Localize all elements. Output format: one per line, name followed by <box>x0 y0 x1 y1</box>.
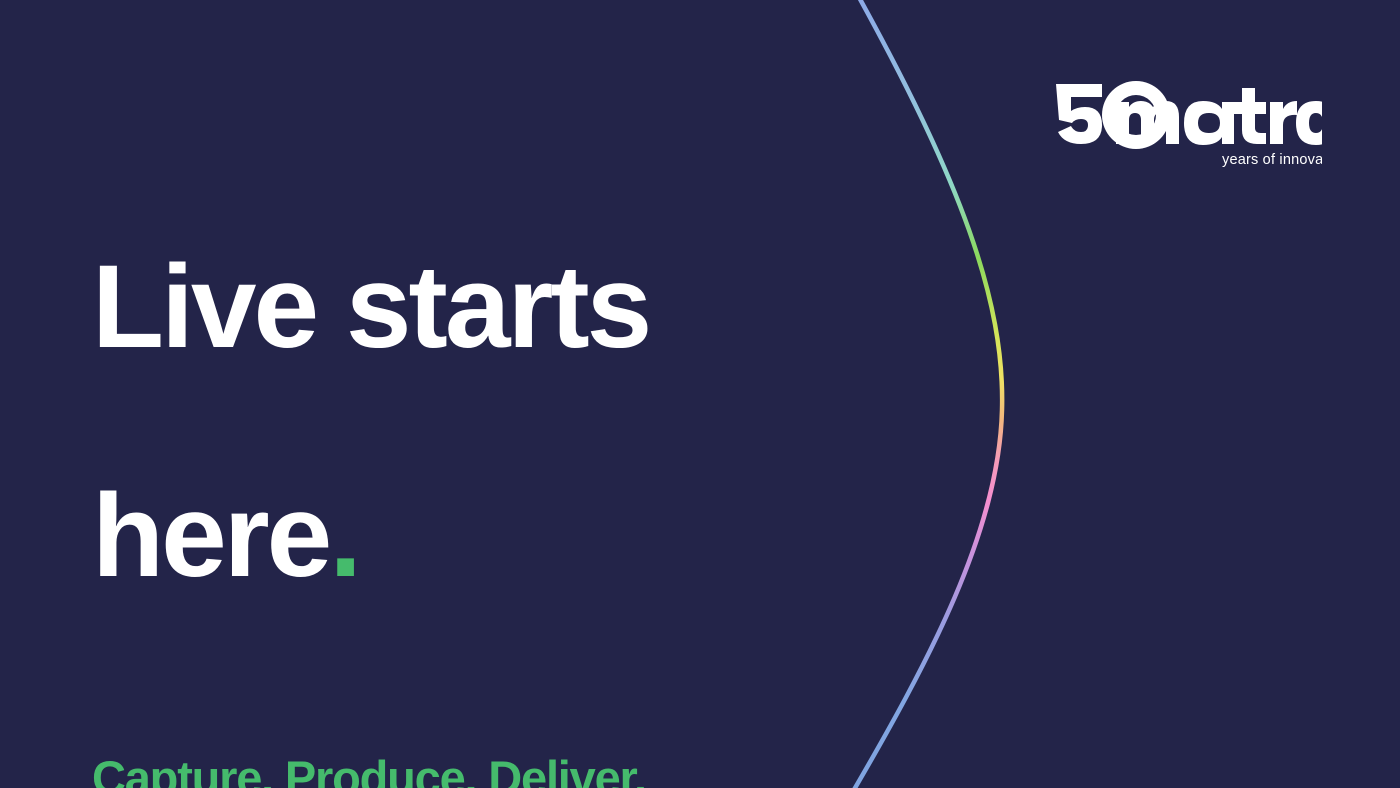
subheadline: Capture. Produce. Deliver. <box>92 752 872 788</box>
logo-five <box>1056 84 1102 144</box>
logo-letter-a <box>1184 101 1234 145</box>
logo-letter-t <box>1234 88 1266 144</box>
matrox-logo-svg: R years of innovation <box>1054 78 1322 170</box>
logo-letter-r <box>1270 101 1297 144</box>
matrox-logo: R years of innovation <box>1054 78 1322 170</box>
headline-accent-dot: . <box>329 470 359 602</box>
page-title: Live starts here. <box>92 136 872 708</box>
logo-tagline: years of innovation <box>1222 152 1322 168</box>
headline-line-2: here. <box>92 479 872 593</box>
content-block: Live starts here. Capture. Produce. Deli… <box>92 136 872 788</box>
promo-banner: Live starts here. Capture. Produce. Deli… <box>0 0 1400 788</box>
headline-line-2-text: here <box>92 470 329 602</box>
logo-letter-m <box>1116 101 1179 144</box>
logo-letter-o <box>1296 101 1322 145</box>
logo-zero <box>1102 81 1170 149</box>
headline-line-1: Live starts <box>92 250 872 364</box>
